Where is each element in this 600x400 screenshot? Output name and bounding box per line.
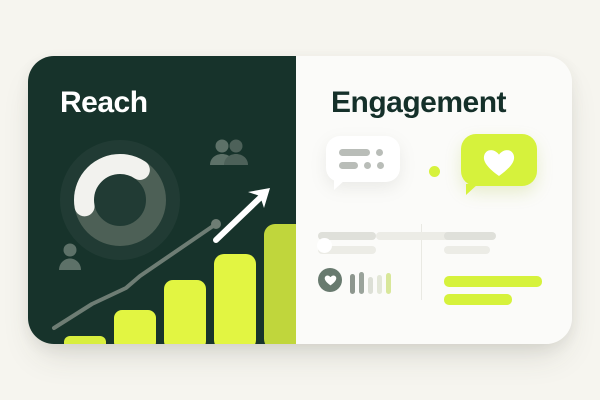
spark-bar [359,272,364,294]
panel-engagement: Engagement [296,56,572,344]
heart-icon [482,147,516,182]
spark-bar [350,274,355,294]
bubble-dot [376,149,383,156]
bar-5 [264,224,296,344]
like-bubble [461,134,537,186]
growth-arrow-icon [216,188,270,240]
reach-bar-chart [48,176,296,344]
skeleton-bar-lime-2 [444,294,512,305]
trend-node [211,219,221,229]
spark-bar [386,273,391,294]
spark-bar [377,275,382,294]
spark-bar [368,277,373,294]
bubble-dot [364,162,371,169]
bar-2 [114,310,156,344]
page-title-reach: Reach [60,86,148,120]
page-title-engagement: Engagement [331,86,506,120]
engagement-stat-block-right [444,232,554,305]
metrics-card: Reach [28,56,572,344]
bar-chart-svg [48,176,296,344]
bar-1 [64,336,106,344]
bubble-line [339,162,358,169]
skeleton-bar-2 [444,246,490,254]
people-group-icon [208,138,252,173]
bar-3 [164,280,206,344]
panel-reach: Reach [28,56,296,344]
engagement-stat-block-left [318,232,414,254]
skeleton-bar-lime-1 [444,276,542,287]
divider-notch [317,238,332,253]
comment-bubble [326,136,400,182]
bubble-dot [377,162,384,169]
engagement-sparkline [350,266,391,294]
skeleton-bar [444,232,496,240]
bubble-line [339,149,370,156]
bar-4 [214,254,256,344]
accent-dot [429,166,440,177]
heart-badge-icon [318,268,342,292]
screenshot-canvas: Reach [0,0,600,400]
